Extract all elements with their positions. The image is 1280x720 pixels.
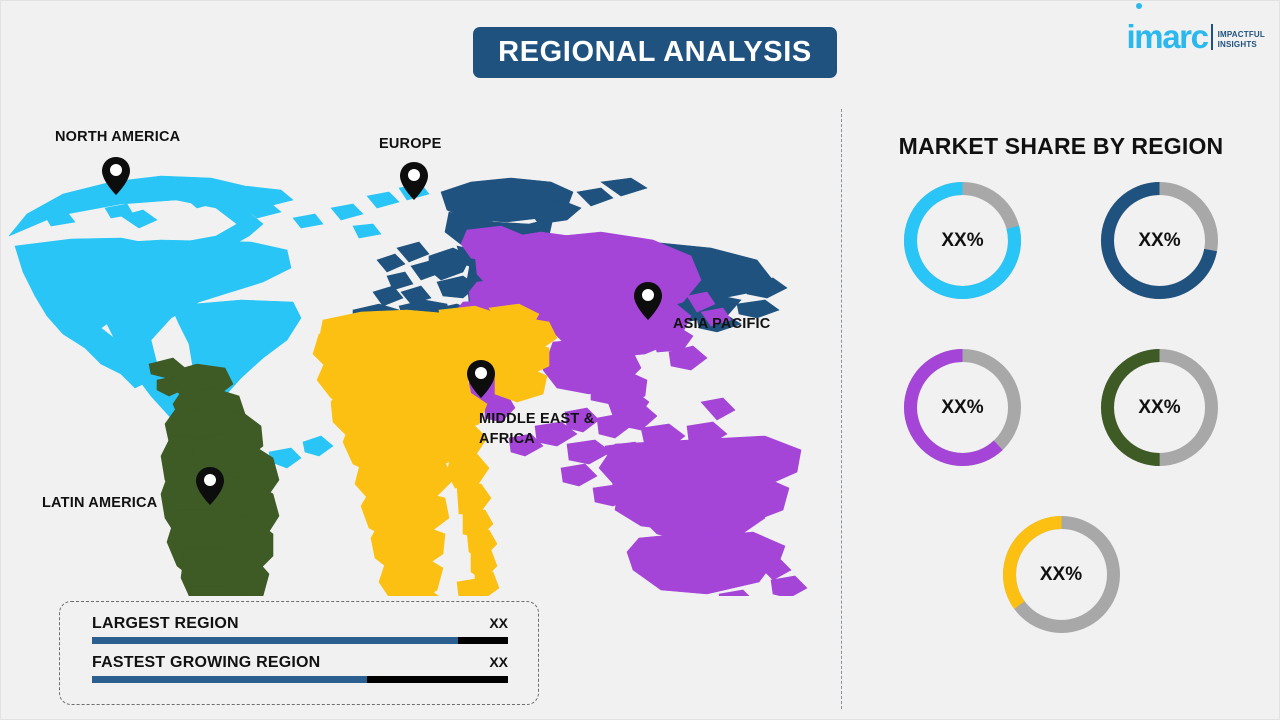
legend-progress-track — [92, 637, 508, 644]
section-divider — [841, 109, 842, 709]
logo-divider — [1211, 24, 1213, 50]
legend-row-largest-region: LARGEST REGION XX — [92, 615, 508, 644]
map-pin-asia-pacific — [633, 281, 663, 321]
donut-value-label: XX% — [899, 177, 1026, 304]
donut-chart: XX% — [1096, 177, 1223, 304]
logo-tagline-line2: INSIGHTS — [1218, 40, 1265, 50]
summary-legend-box: LARGEST REGION XX FASTEST GROWING REGION… — [59, 601, 539, 705]
map-label-europe: EUROPE — [379, 134, 441, 154]
imarc-logo: imarc IMPACTFUL INSIGHTS — [1127, 13, 1265, 53]
legend-label: FASTEST GROWING REGION — [92, 654, 320, 672]
legend-value: XX — [489, 654, 508, 670]
donut-value-label: XX% — [1096, 177, 1223, 304]
map-label-middle-east-africa: MIDDLE EAST & AFRICA — [479, 409, 594, 449]
donut-chart: XX% — [899, 344, 1026, 471]
donut-value-label: XX% — [899, 344, 1026, 471]
legend-label: LARGEST REGION — [92, 615, 239, 633]
market-share-title: MARKET SHARE BY REGION — [849, 133, 1273, 160]
logo-dot-icon — [1136, 3, 1142, 9]
market-share-panel: MARKET SHARE BY REGION XX%XX%XX%XX%XX% — [849, 119, 1273, 689]
infographic-canvas: REGIONAL ANALYSIS imarc IMPACTFUL INSIGH… — [0, 0, 1280, 720]
donut-value-label: XX% — [1096, 344, 1223, 471]
world-map: NORTH AMERICA EUROPE ASIA PACIFIC MIDDLE… — [1, 96, 831, 596]
map-label-north-america: NORTH AMERICA — [55, 127, 180, 147]
map-pin-latin-america — [195, 466, 225, 506]
legend-progress-fill — [92, 637, 458, 644]
donut-chart: XX% — [998, 511, 1125, 638]
legend-progress-fill — [92, 676, 367, 683]
logo-tagline: IMPACTFUL INSIGHTS — [1218, 30, 1265, 50]
map-pin-middle-east-africa — [466, 359, 496, 399]
legend-progress-track — [92, 676, 508, 683]
page-title-banner: REGIONAL ANALYSIS — [473, 27, 837, 78]
map-pin-north-america — [101, 156, 131, 196]
logo-tagline-line1: IMPACTFUL — [1218, 30, 1265, 40]
donut-chart: XX% — [1096, 344, 1223, 471]
map-pin-europe — [399, 161, 429, 201]
page-title: REGIONAL ANALYSIS — [498, 36, 812, 69]
map-label-latin-america: LATIN AMERICA — [42, 493, 157, 513]
map-label-asia-pacific: ASIA PACIFIC — [673, 314, 770, 334]
logo-wordmark: imarc — [1127, 20, 1208, 53]
donut-chart-grid: XX%XX%XX%XX%XX% — [849, 177, 1273, 638]
legend-value: XX — [489, 615, 508, 631]
donut-chart: XX% — [899, 177, 1026, 304]
donut-value-label: XX% — [998, 511, 1125, 638]
legend-row-fastest-growing-region: FASTEST GROWING REGION XX — [92, 654, 508, 683]
